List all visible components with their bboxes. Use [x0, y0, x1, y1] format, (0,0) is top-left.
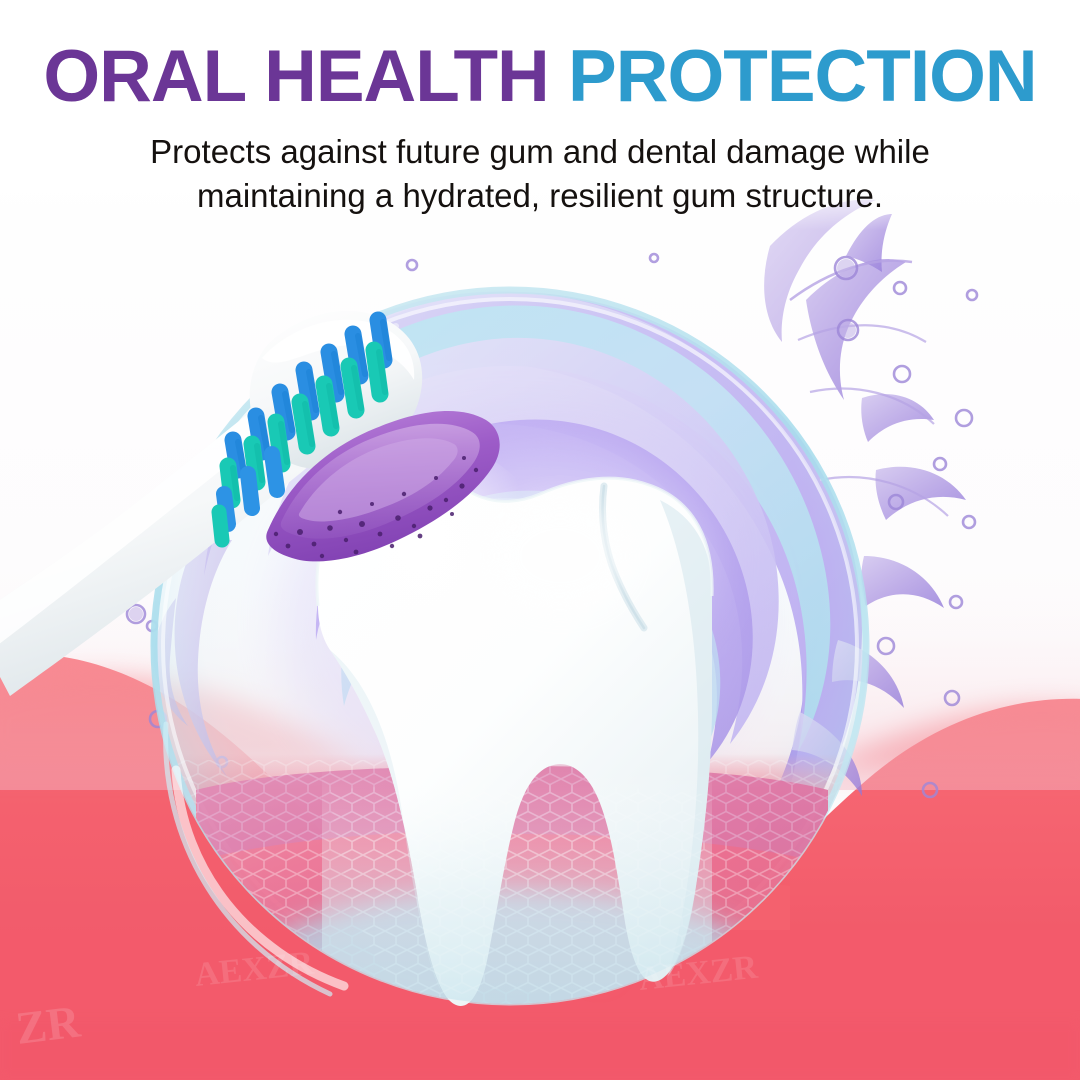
header: ORAL HEALTH PROTECTION Protects against … — [0, 0, 1080, 230]
page-subtitle: Protects against future gum and dental d… — [90, 130, 990, 217]
subtitle-line-2: maintaining a hydrated, resilient gum st… — [90, 174, 990, 218]
page-title-primary: ORAL HEALTH — [43, 36, 568, 117]
gum-foreground-blur — [0, 1020, 1080, 1080]
watermark-zr: ZR — [13, 995, 83, 1054]
page-title: ORAL HEALTH PROTECTION — [0, 40, 1080, 113]
promo-banner: ZR AEXZR AEXZR ORAL HEALTH PROTECTION Pr… — [0, 0, 1080, 1080]
subtitle-line-1: Protects against future gum and dental d… — [90, 130, 990, 174]
page-title-accent: PROTECTION — [568, 36, 1037, 117]
